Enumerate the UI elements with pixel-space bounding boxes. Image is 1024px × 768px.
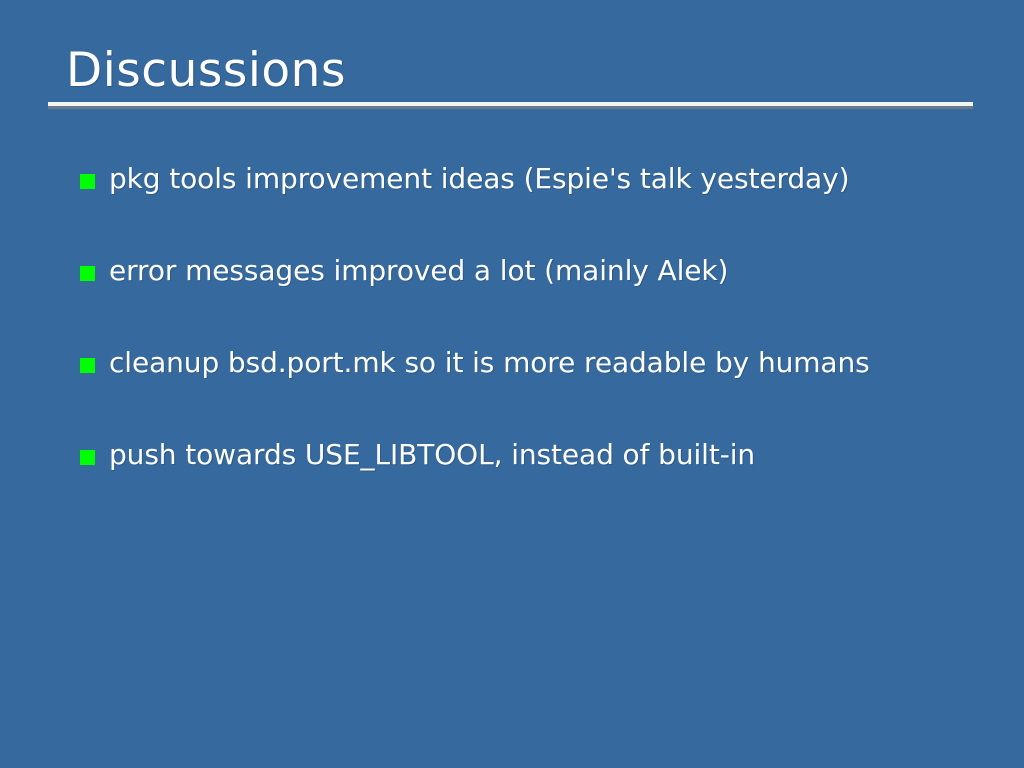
green-square-bullet-icon <box>80 358 95 373</box>
list-item: pkg tools improvement ideas (Espie's tal… <box>80 156 980 248</box>
list-item-label: push towards USE_LIBTOOL, instead of bui… <box>109 432 980 478</box>
green-square-bullet-icon <box>80 450 95 465</box>
list-item-label: pkg tools improvement ideas (Espie's tal… <box>109 156 980 202</box>
title-block: Discussions <box>48 44 976 114</box>
bullet-list: pkg tools improvement ideas (Espie's tal… <box>80 156 980 524</box>
list-item: cleanup bsd.port.mk so it is more readab… <box>80 340 980 432</box>
page-title: Discussions <box>66 44 346 98</box>
title-underline-divider <box>48 102 973 106</box>
list-item-label: error messages improved a lot (mainly Al… <box>109 248 980 294</box>
list-item: push towards USE_LIBTOOL, instead of bui… <box>80 432 980 524</box>
green-square-bullet-icon <box>80 266 95 281</box>
list-item-label: cleanup bsd.port.mk so it is more readab… <box>109 340 980 386</box>
green-square-bullet-icon <box>80 174 95 189</box>
list-item: error messages improved a lot (mainly Al… <box>80 248 980 340</box>
presentation-slide: Discussions pkg tools improvement ideas … <box>0 0 1024 768</box>
